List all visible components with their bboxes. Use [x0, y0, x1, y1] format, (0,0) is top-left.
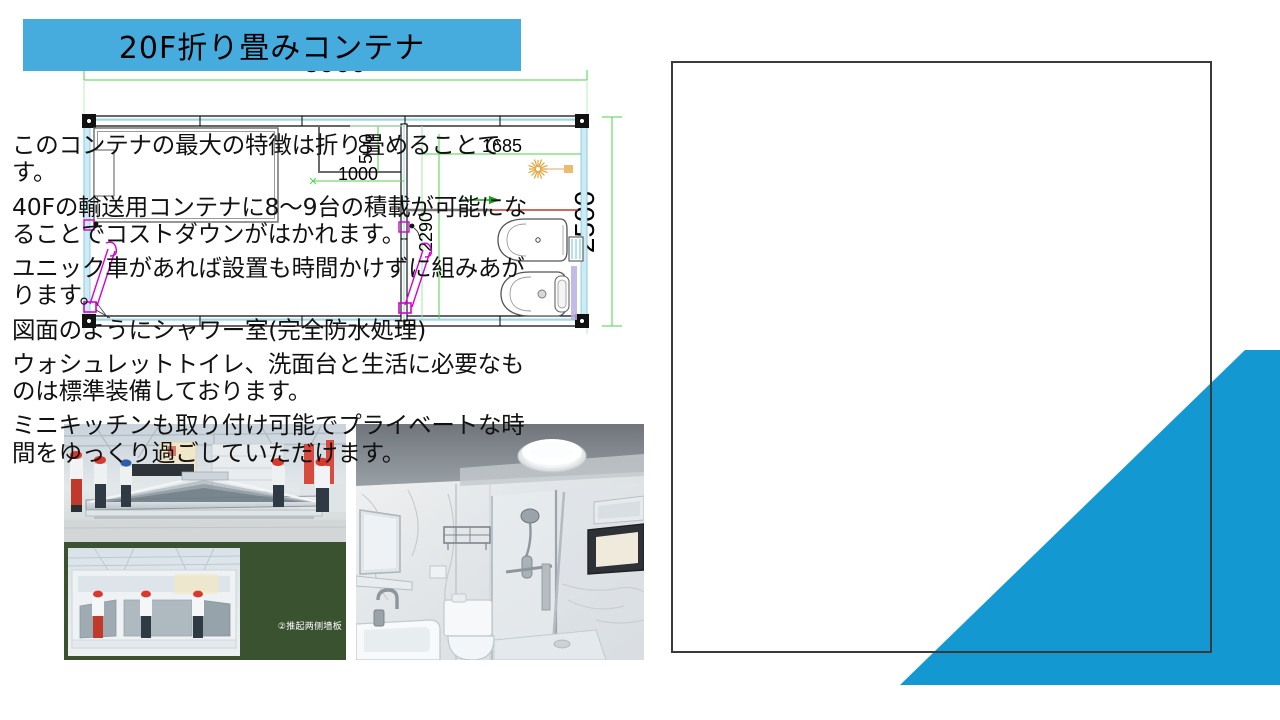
paragraph-6: ミニキッチンも取り付け可能でプライベートな時間をゆっくり過ごしていただけます。: [12, 412, 532, 467]
page-title: 20F折り畳みコンテナ: [119, 23, 425, 67]
slide-canvas: 5900 2500: [0, 0, 1280, 720]
wall-panel: [588, 496, 644, 574]
paragraph-5: ウォシュレットトイレ、洗面台と生活に必要なものは標準装備しております。: [12, 351, 532, 406]
paragraph-3: ユニック車があれば設置も時間かけずに組みあがります。: [12, 255, 532, 310]
info-card: [671, 61, 1212, 653]
shower-head-icon: [529, 160, 574, 179]
paragraph-2: 40Fの輸送用コンテナに8～9台の積載が可能になることでコストダウンがはかれます…: [12, 194, 532, 249]
paragraph-4: 図面のようにシャワー室(完全防水処理): [12, 317, 532, 344]
paragraph-1: このコンテナの最大の特徴は折り畳めることです。: [12, 132, 532, 187]
toilet: [444, 594, 494, 660]
assembly-photo-caption: ②推起两侧墙板: [278, 619, 342, 632]
mirror: [360, 510, 400, 574]
card-body: このコンテナの最大の特徴は折り畳めることです。 40Fの輸送用コンテナに8～9台…: [12, 132, 532, 474]
card-title-bar: 20F折り畳みコンテナ: [23, 19, 521, 71]
